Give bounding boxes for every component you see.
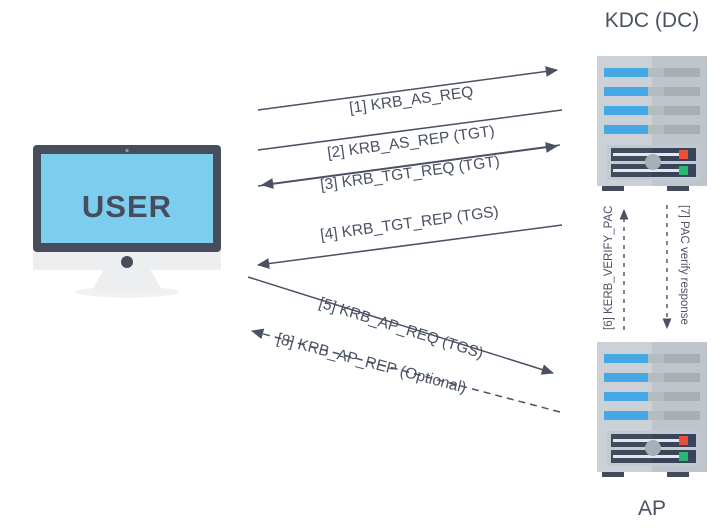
vertical-label-7: [7] PAC verify response <box>678 205 690 325</box>
user-label: USER <box>82 189 172 224</box>
kdc-title: KDC (DC) <box>605 9 700 32</box>
kdc-led-red-icon <box>679 150 688 159</box>
monitor-camera-icon <box>125 149 128 152</box>
kdc-knob-icon <box>645 154 661 170</box>
ap-led-green-icon <box>679 452 688 461</box>
kdc-server-graphic <box>597 56 707 191</box>
message-label-1: [1] KRB_AS_REQ <box>348 84 474 117</box>
ap-knob-icon <box>645 440 661 456</box>
monitor-logo-dot <box>121 256 133 268</box>
kerberos-flow-diagram: KDC (DC) AP USER <box>0 0 715 528</box>
vertical-label-6: [6] KERB_VERIFY_PAC <box>603 206 615 330</box>
ap-front-panel <box>607 431 700 466</box>
user-monitor: USER <box>33 145 221 298</box>
ap-title: AP <box>638 497 666 520</box>
ap-server-graphic <box>597 342 707 477</box>
message-label-4: [4] KRB_TGT_REP (TGS) <box>319 203 499 244</box>
ap-led-red-icon <box>679 436 688 445</box>
kdc-led-green-icon <box>679 166 688 175</box>
kdc-front-panel <box>607 145 700 180</box>
